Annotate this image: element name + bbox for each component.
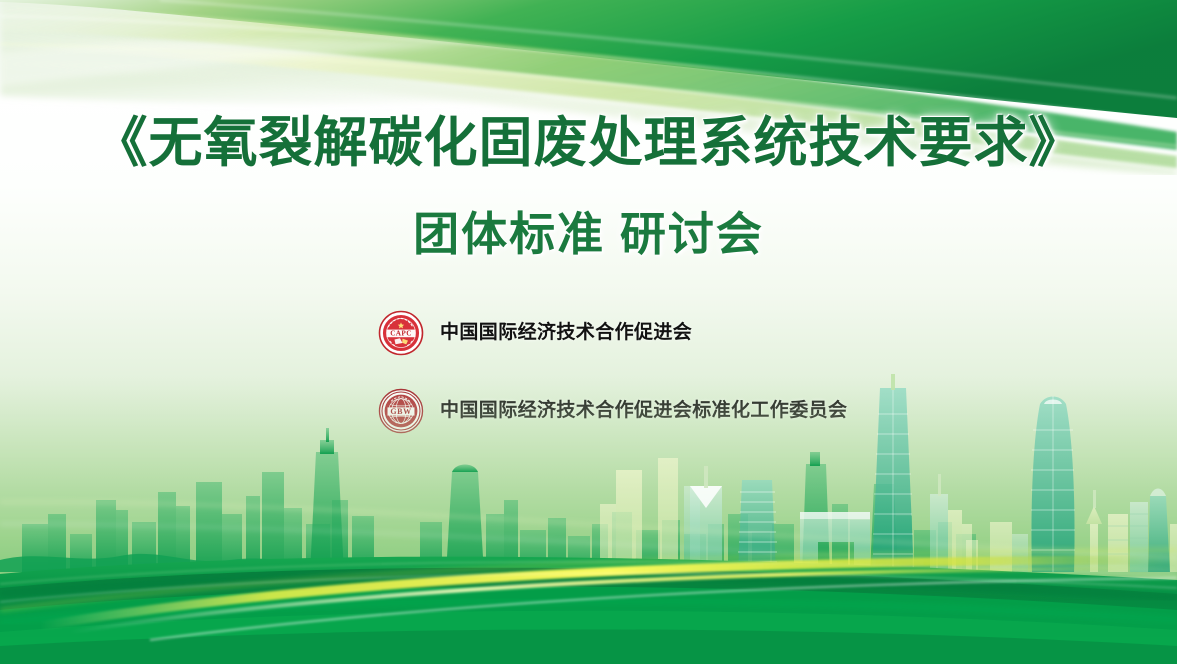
bottom-skyline-decoration: [0, 374, 1177, 664]
capc-seal-icon: CAPC: [378, 310, 424, 356]
presentation-slide: 《无氧裂解碳化固废处理系统技术要求》 团体标准 研讨会: [0, 0, 1177, 664]
page-title: 《无氧裂解碳化固废处理系统技术要求》: [0, 112, 1177, 174]
svg-text:CAPC: CAPC: [390, 330, 412, 338]
page-subtitle: 团体标准 研讨会: [0, 206, 1177, 262]
organization-row-primary: CAPC 中国国际经济技术合作促进会: [378, 310, 692, 356]
organization-name-primary: 中国国际经济技术合作促进会: [440, 321, 692, 345]
